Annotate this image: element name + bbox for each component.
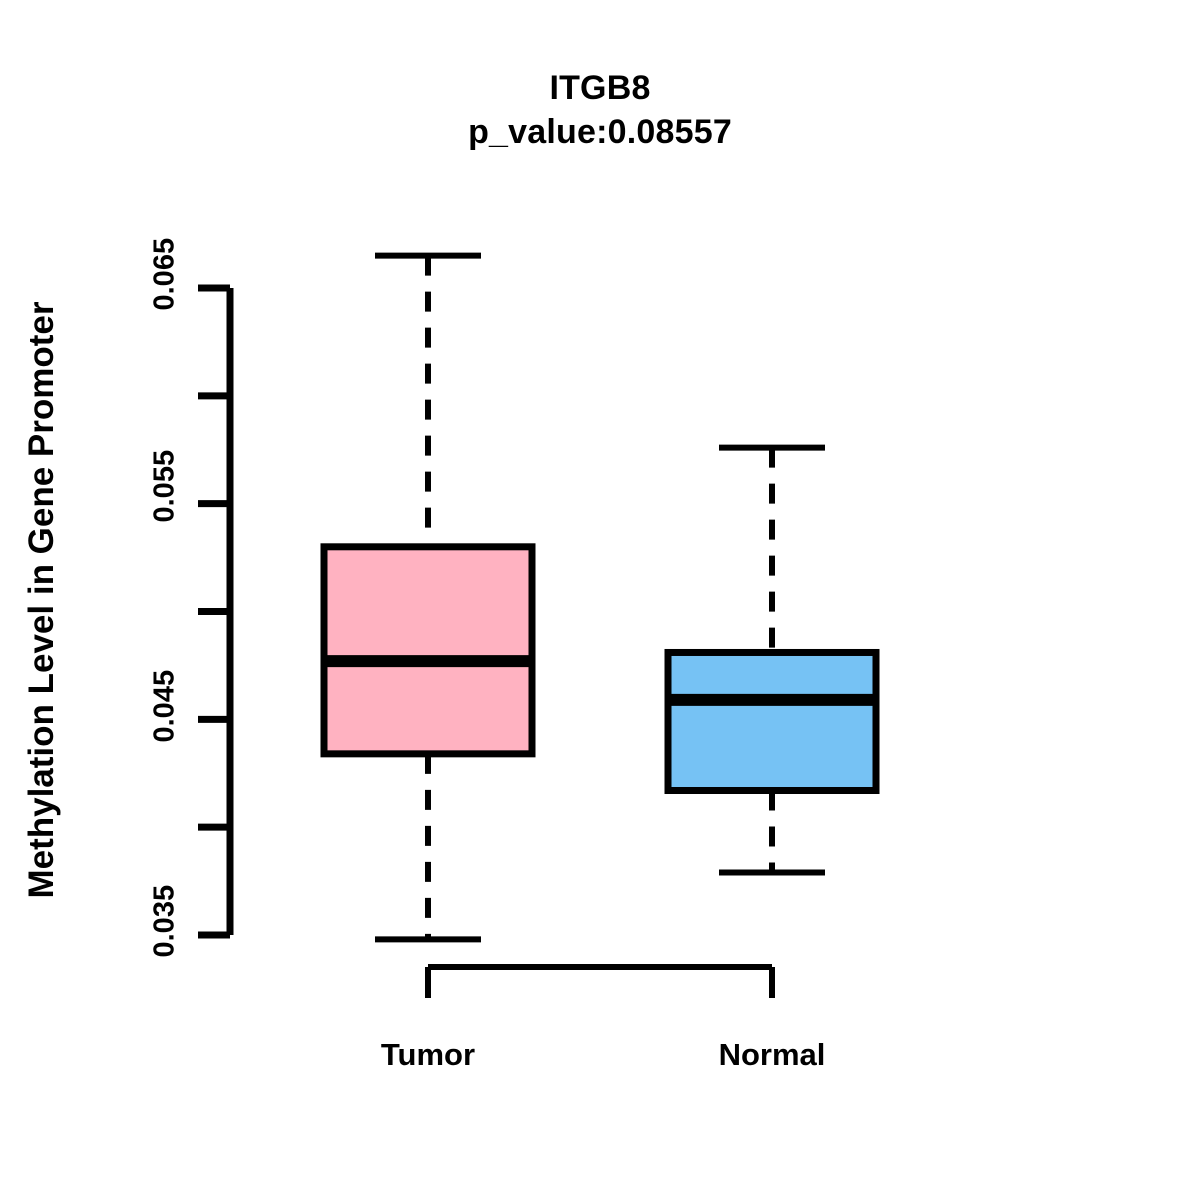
box-rect-normal[interactable] — [668, 652, 876, 790]
box-tumor — [321, 256, 535, 940]
box-normal — [665, 448, 879, 873]
y-axis — [198, 288, 230, 935]
boxplot-figure: ITGB8 p_value:0.08557 Methylation Level … — [0, 0, 1200, 1200]
x-axis-bracket — [428, 967, 772, 998]
plot-canvas — [0, 0, 1200, 1200]
box-rect-tumor[interactable] — [324, 547, 532, 754]
box-series-group — [321, 256, 879, 940]
